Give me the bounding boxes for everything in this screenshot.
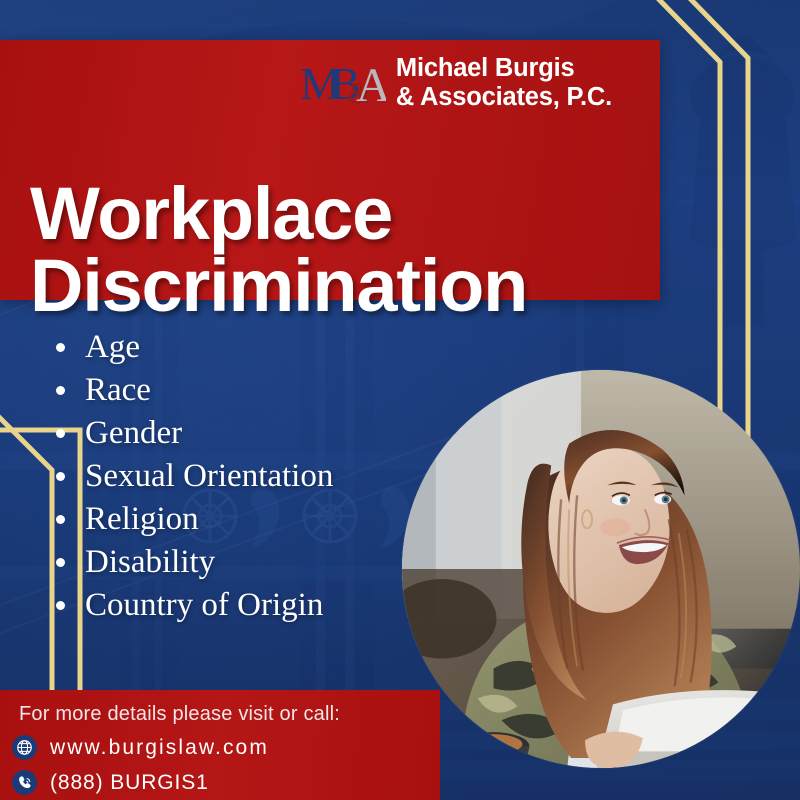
bullet-dot-icon [56,515,65,524]
list-item-label: Country of Origin [85,589,323,622]
globe-icon [12,735,37,760]
website-url[interactable]: www.burgislaw.com [50,736,269,760]
poster-canvas: M B & A Michael Burgis & Associates, P.C… [0,0,800,800]
phone-icon [12,770,37,795]
list-item-label: Gender [85,417,182,450]
bullet-dot-icon [56,386,65,395]
website-contact-row[interactable]: www.burgislaw.com [12,735,269,760]
list-item-label: Religion [85,503,199,536]
list-item-label: Sexual Orientation [85,460,333,493]
phone-number[interactable]: (888) BURGIS1 [50,771,209,795]
list-item: Disability [56,541,333,584]
page-title: Workplace Discrimination [30,178,527,323]
bullet-dot-icon [56,472,65,481]
discrimination-type-list: Age Race Gender Sexual Orientation Relig… [56,326,333,627]
list-item-label: Race [85,374,151,407]
headline-line2: Discrimination [30,250,527,323]
brand-lockup: M B & A Michael Burgis & Associates, P.C… [300,54,612,112]
phone-contact-row[interactable]: (888) BURGIS1 [12,770,209,795]
list-item: Sexual Orientation [56,455,333,498]
list-item-label: Disability [85,546,215,579]
firm-name-line2: & Associates, P.C. [396,83,612,112]
headline-line1: Workplace [30,178,527,251]
list-item: Race [56,369,333,412]
header-banner: M B & A Michael Burgis & Associates, P.C… [0,40,660,300]
footer-contact-banner: For more details please visit or call: w… [0,690,440,800]
list-item: Age [56,326,333,369]
firm-name-line1: Michael Burgis [396,54,612,83]
list-item-label: Age [85,331,140,364]
bullet-dot-icon [56,558,65,567]
list-item: Gender [56,412,333,455]
list-item: Religion [56,498,333,541]
firm-name: Michael Burgis & Associates, P.C. [396,54,612,112]
footer-lead-text: For more details please visit or call: [19,703,340,726]
photo-woman-at-laptop [402,370,800,768]
mba-monogram-logo: M B & A [300,55,386,111]
svg-text:A: A [356,59,386,111]
bullet-dot-icon [56,429,65,438]
bullet-dot-icon [56,343,65,352]
bullet-dot-icon [56,601,65,610]
list-item: Country of Origin [56,584,333,627]
